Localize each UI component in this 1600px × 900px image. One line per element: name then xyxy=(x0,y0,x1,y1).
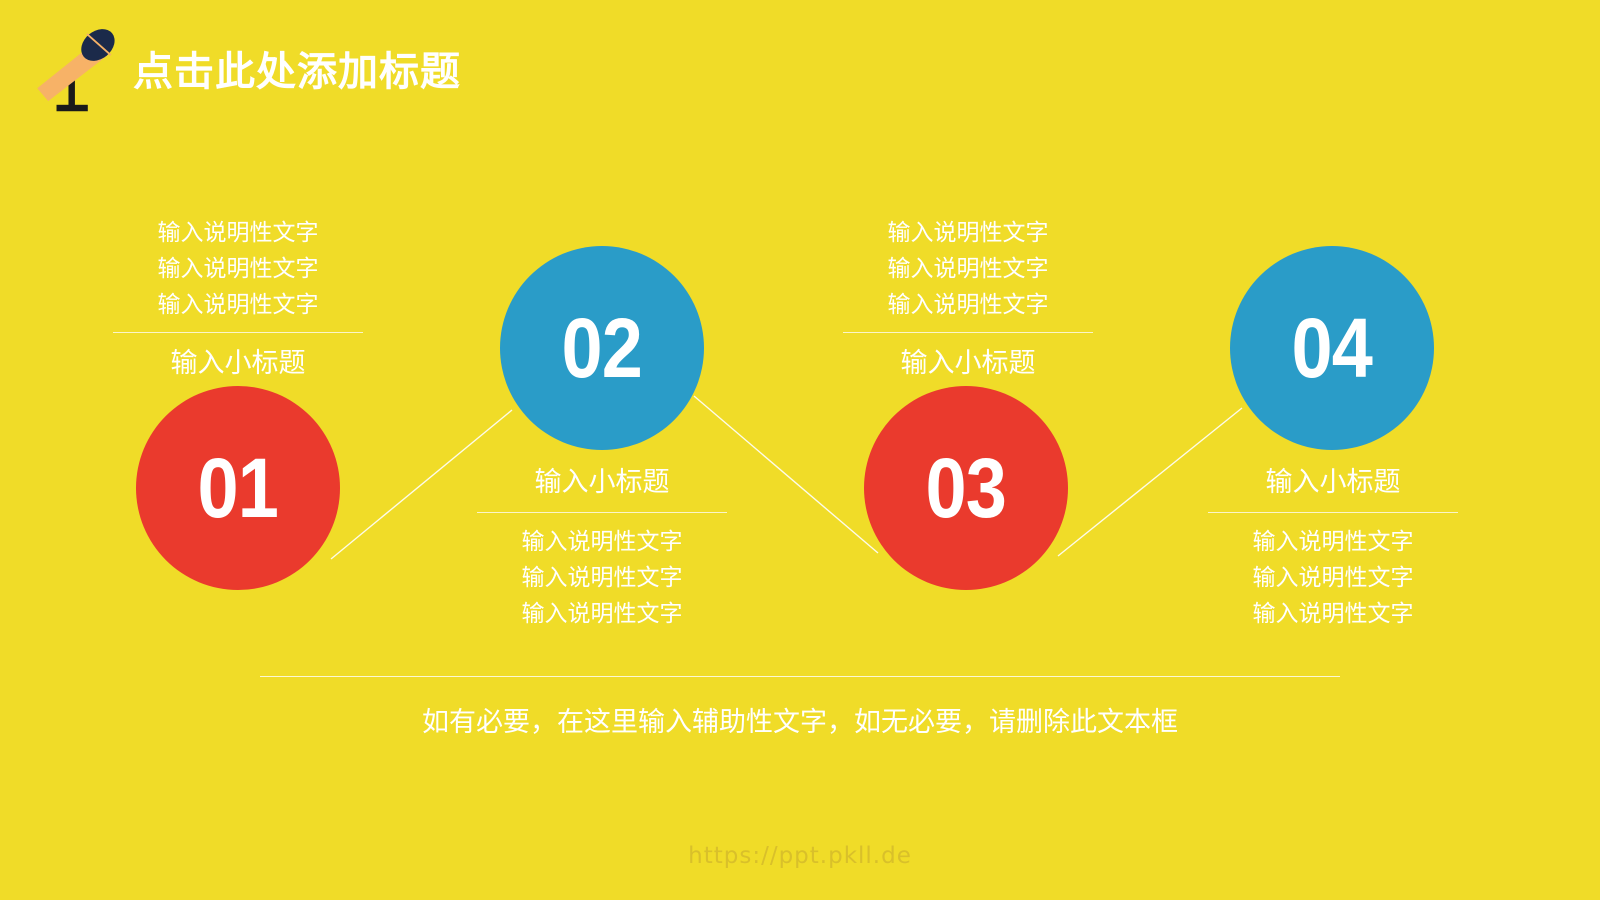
text-divider xyxy=(113,332,363,333)
watermark-url: https://ppt.pkll.de xyxy=(0,843,1600,869)
step-circle-03[interactable]: 03 xyxy=(864,386,1068,590)
description-line: 输入说明性文字 xyxy=(477,595,727,631)
description-line: 输入说明性文字 xyxy=(477,523,727,559)
description-line: 输入说明性文字 xyxy=(1208,523,1458,559)
step-circle-02[interactable]: 02 xyxy=(500,246,704,450)
microphone-icon xyxy=(28,22,120,114)
step-subtitle: 输入小标题 xyxy=(1208,462,1458,502)
description-line: 输入说明性文字 xyxy=(113,214,363,250)
step-number-03: 03 xyxy=(926,446,1006,530)
description-line: 输入说明性文字 xyxy=(843,286,1093,322)
description-line: 输入说明性文字 xyxy=(843,250,1093,286)
description-line: 输入说明性文字 xyxy=(843,214,1093,250)
description-line: 输入说明性文字 xyxy=(1208,559,1458,595)
footer-divider xyxy=(260,676,1340,677)
footer-caption: 如有必要，在这里输入辅助性文字，如无必要，请删除此文本框 xyxy=(260,703,1340,741)
step-number-04: 04 xyxy=(1292,306,1372,390)
step-circle-04[interactable]: 04 xyxy=(1230,246,1434,450)
footer-block: 如有必要，在这里输入辅助性文字，如无必要，请删除此文本框 xyxy=(260,676,1340,741)
step-circle-01[interactable]: 01 xyxy=(136,386,340,590)
text-divider xyxy=(477,512,727,513)
description-line: 输入说明性文字 xyxy=(113,286,363,322)
step-subtitle: 输入小标题 xyxy=(843,343,1093,383)
text-divider xyxy=(1208,512,1458,513)
step-text-02: 输入小标题 输入说明性文字 输入说明性文字 输入说明性文字 xyxy=(477,462,727,631)
step-text-01: 输入说明性文字 输入说明性文字 输入说明性文字 输入小标题 xyxy=(113,214,363,383)
step-text-04: 输入小标题 输入说明性文字 输入说明性文字 输入说明性文字 xyxy=(1208,462,1458,631)
description-line: 输入说明性文字 xyxy=(477,559,727,595)
step-number-02: 02 xyxy=(562,306,642,390)
slide-header: 点击此处添加标题 xyxy=(0,0,1600,140)
text-divider xyxy=(843,332,1093,333)
page-title: 点击此处添加标题 xyxy=(133,50,461,94)
description-line: 输入说明性文字 xyxy=(1208,595,1458,631)
description-line: 输入说明性文字 xyxy=(113,250,363,286)
step-number-01: 01 xyxy=(198,446,278,530)
step-text-03: 输入说明性文字 输入说明性文字 输入说明性文字 输入小标题 xyxy=(843,214,1093,383)
step-subtitle: 输入小标题 xyxy=(113,343,363,383)
slide-canvas: 点击此处添加标题 01 02 03 04 输入说明性文字 输入说明性文字 输入说… xyxy=(0,0,1600,900)
step-subtitle: 输入小标题 xyxy=(477,462,727,502)
